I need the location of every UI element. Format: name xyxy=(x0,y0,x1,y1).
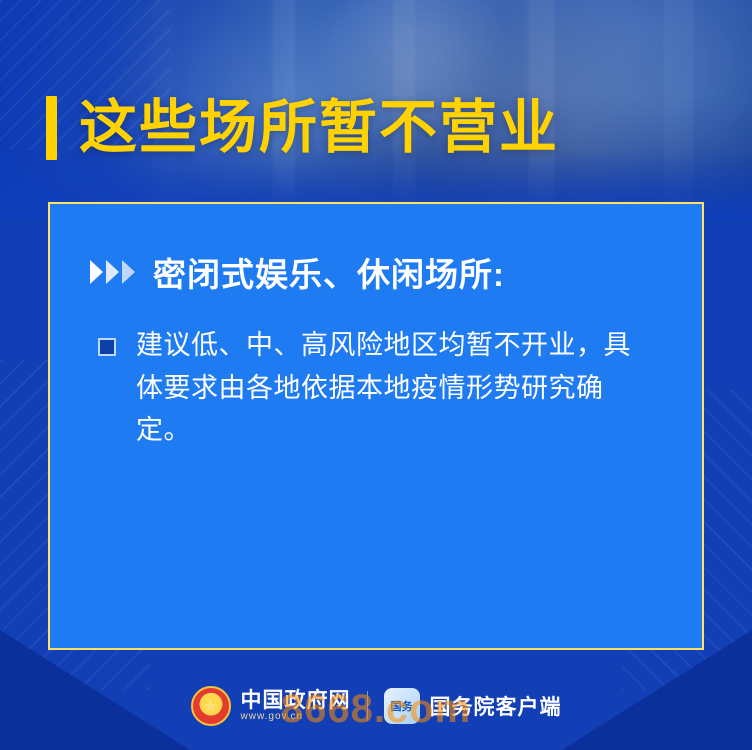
content-card-inner: 密闭式娱乐、休闲场所: 建议低、中、高风险地区均暂不开业，具体要求由各地依据本地… xyxy=(50,204,702,452)
app-logo-icon: 国务 xyxy=(384,688,420,724)
headline-block: 这些场所暂不营业 xyxy=(46,96,559,160)
chevron-right-icon xyxy=(90,260,135,284)
footer-divider xyxy=(367,691,368,721)
page-title: 这些场所暂不营业 xyxy=(79,99,559,157)
square-bullet-icon xyxy=(98,338,116,356)
section-heading-label: 密闭式娱乐、休闲场所: xyxy=(153,248,505,296)
content-card: 密闭式娱乐、休闲场所: 建议低、中、高风险地区均暂不开业，具体要求由各地依据本地… xyxy=(48,202,704,650)
national-emblem-icon: ★ xyxy=(191,686,231,726)
gov-name-en: www.gov.cn xyxy=(241,712,351,723)
gov-branding: 中国政府网 www.gov.cn xyxy=(241,690,351,723)
list-item: 建议低、中、高风险地区均暂不开业，具体要求由各地依据本地疫情形势研究确定。 xyxy=(90,324,662,452)
app-name-label: 国务院客户端 xyxy=(430,691,562,721)
list-item-text: 建议低、中、高风险地区均暂不开业，具体要求由各地依据本地疫情形势研究确定。 xyxy=(136,324,656,452)
poster-canvas: 这些场所暂不营业 密闭式娱乐、休闲场所: 建议低、中、高风险地区均暂不开业，具体… xyxy=(0,0,752,750)
headline-accent-bar xyxy=(46,96,57,160)
footer-bar: ★ 中国政府网 www.gov.cn 国务 国务院客户端 xyxy=(0,662,752,750)
gov-name-cn: 中国政府网 xyxy=(241,690,351,712)
section-heading: 密闭式娱乐、休闲场所: xyxy=(90,248,662,296)
